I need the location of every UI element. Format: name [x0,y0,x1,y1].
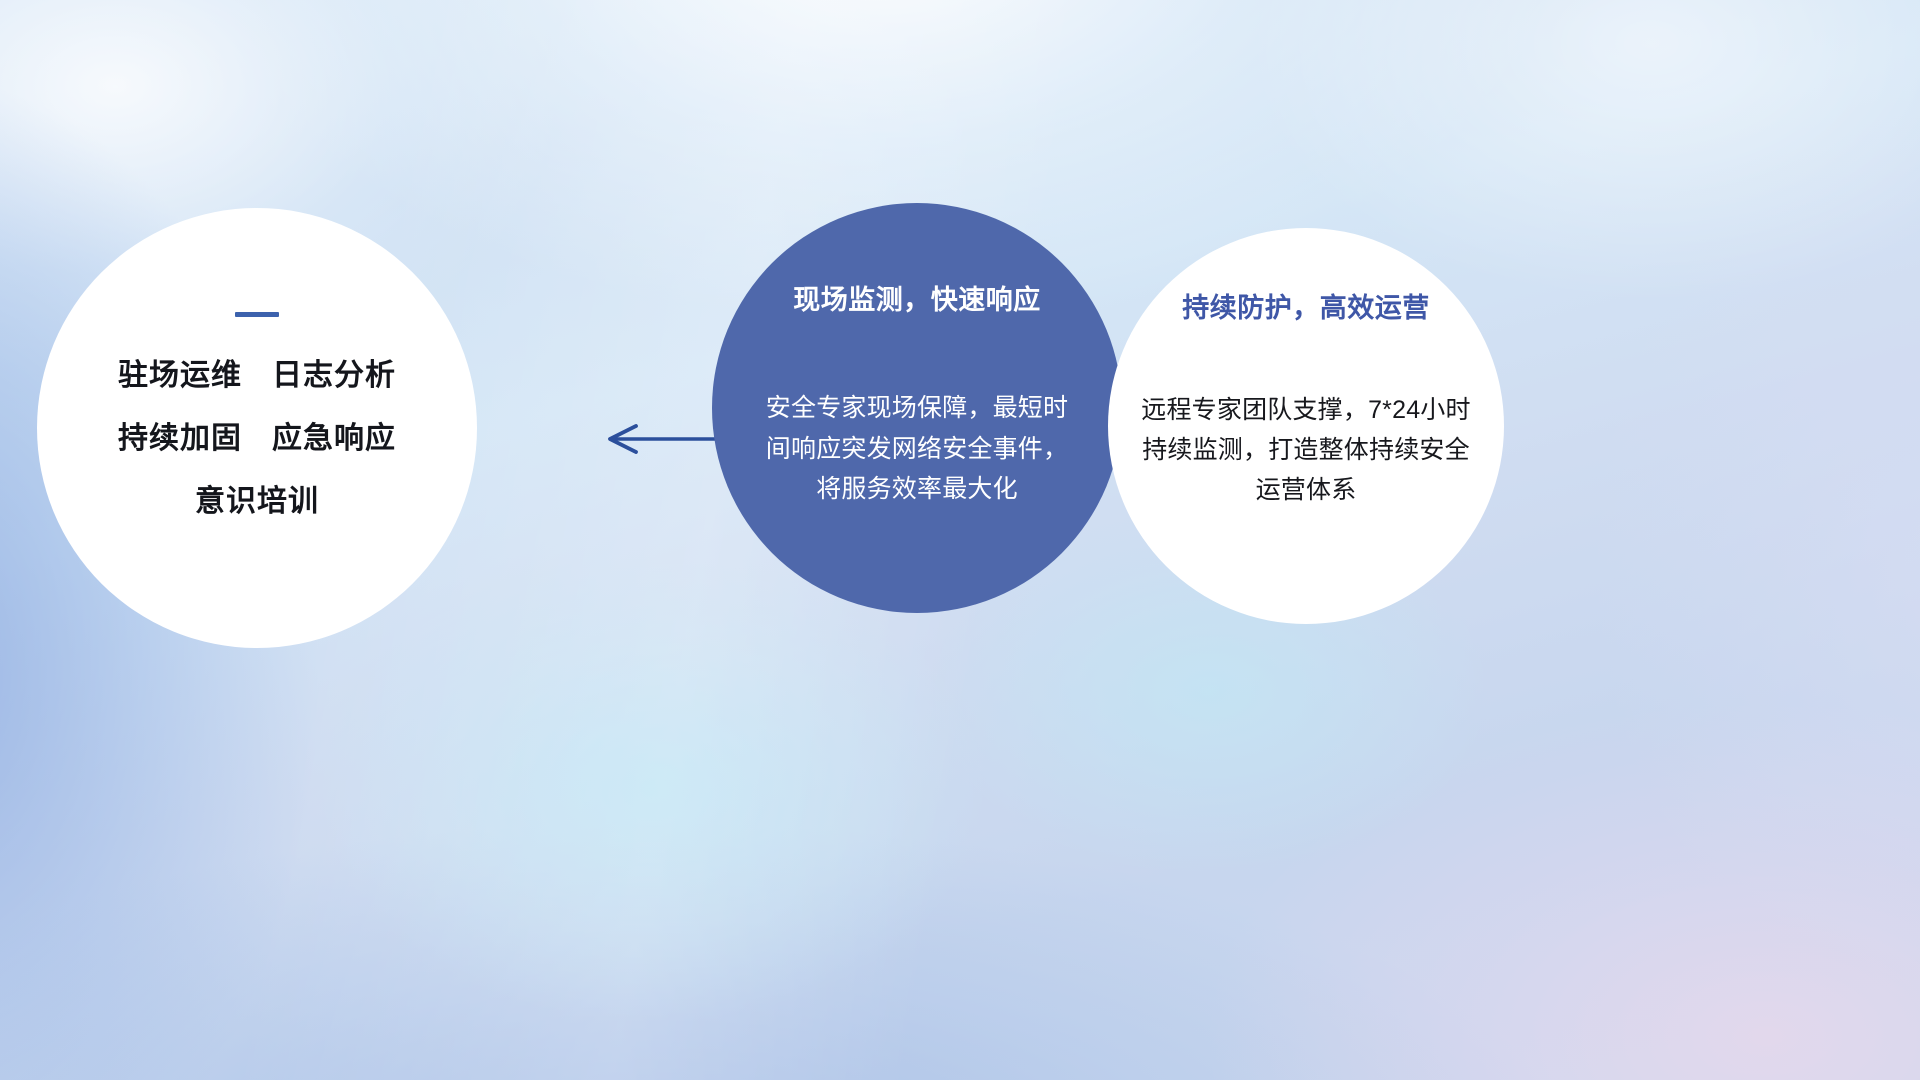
keyword-item: 驻场运维 [118,361,242,391]
continuous-protection-circle[interactable]: 持续防护，高效运营 远程专家团队支撑，7*24小时持续监测，打造整体持续安全运营… [1108,228,1504,624]
onsite-monitoring-circle[interactable]: 现场监测，快速响应 安全专家现场保障，最短时间响应突发网络安全事件，将服务效率最… [712,203,1122,613]
keyword-row: 持续加固 应急响应 [118,424,396,454]
title-divider [235,312,279,317]
circle-title: 现场监测，快速响应 [793,287,1041,314]
keyword-item: 日志分析 [272,361,396,391]
keyword-item: 持续加固 [118,424,242,454]
keyword-row: 驻场运维 日志分析 [118,361,396,391]
slide-canvas: 驻场运维 日志分析 持续加固 应急响应 意识培训 现场监测，快速响应 安全专家现… [0,0,1920,1080]
keyword-row: 意识培训 [195,487,319,517]
keyword-item: 应急响应 [272,424,396,454]
circle-body-text: 远程专家团队支撑，7*24小时持续监测，打造整体持续安全运营体系 [1130,390,1482,510]
capabilities-circle[interactable]: 驻场运维 日志分析 持续加固 应急响应 意识培训 [37,208,477,648]
circle-body-text: 安全专家现场保障，最短时间响应突发网络安全事件，将服务效率最大化 [760,388,1074,510]
keyword-item: 意识培训 [195,487,319,517]
circle-title: 持续防护，高效运营 [1182,295,1430,322]
